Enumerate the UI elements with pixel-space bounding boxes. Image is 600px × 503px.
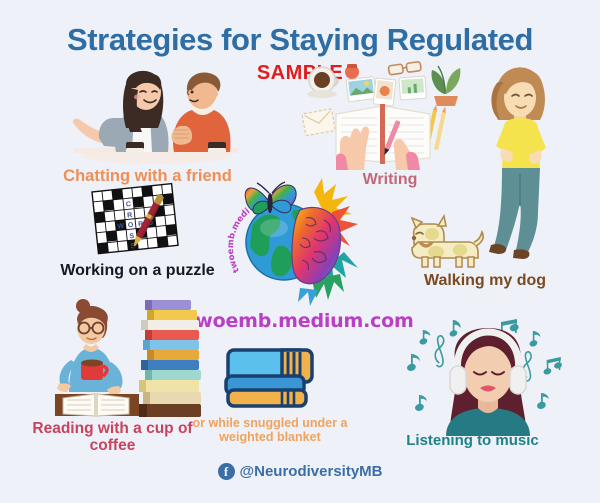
svg-text:R: R [127, 212, 133, 219]
label-walking-my-dog: Walking my dog [395, 272, 575, 290]
dog-illustration [398, 212, 484, 272]
rainbow-butterfly-globe-brain-logo: twoemb.medium.com [228, 176, 364, 306]
label-working-on-a-puzzle: Working on a puzzle [30, 262, 245, 280]
walking-woman-illustration [478, 62, 568, 267]
chatting-with-a-friend-illustration [68, 62, 244, 164]
listening-to-music-illustration [398, 318, 578, 436]
facebook-icon[interactable]: f [218, 463, 235, 480]
label-weighted-blanket: or while snuggled under a weighted blank… [190, 416, 350, 444]
label-listening-to-music: Listening to music [375, 433, 570, 450]
folded-blankets-icon [222, 346, 314, 412]
writing-illustration [300, 58, 470, 170]
social-handle[interactable]: @NeurodiversityMB [240, 463, 383, 480]
page-title: Strategies for Staying Regulated [0, 22, 600, 58]
reading-with-coffee-illustration [35, 300, 205, 420]
infographic-canvas: Strategies for Staying Regulated SAMPLE [0, 0, 600, 503]
label-reading-with-a-cup-of-coffee: Reading with a cup of coffee [30, 420, 195, 455]
footer-social: f @NeurodiversityMB [0, 463, 600, 480]
svg-text:W: W [117, 223, 125, 231]
crossword-puzzle-illustration: C R WORD S S [86, 188, 196, 260]
label-chatting-with-a-friend: Chatting with a friend [35, 167, 260, 185]
logo-curved-url: twoemb.medium.com [224, 169, 253, 274]
svg-text:C: C [126, 201, 132, 208]
svg-text:twoemb.medium.com: twoemb.medium.com [224, 169, 253, 274]
